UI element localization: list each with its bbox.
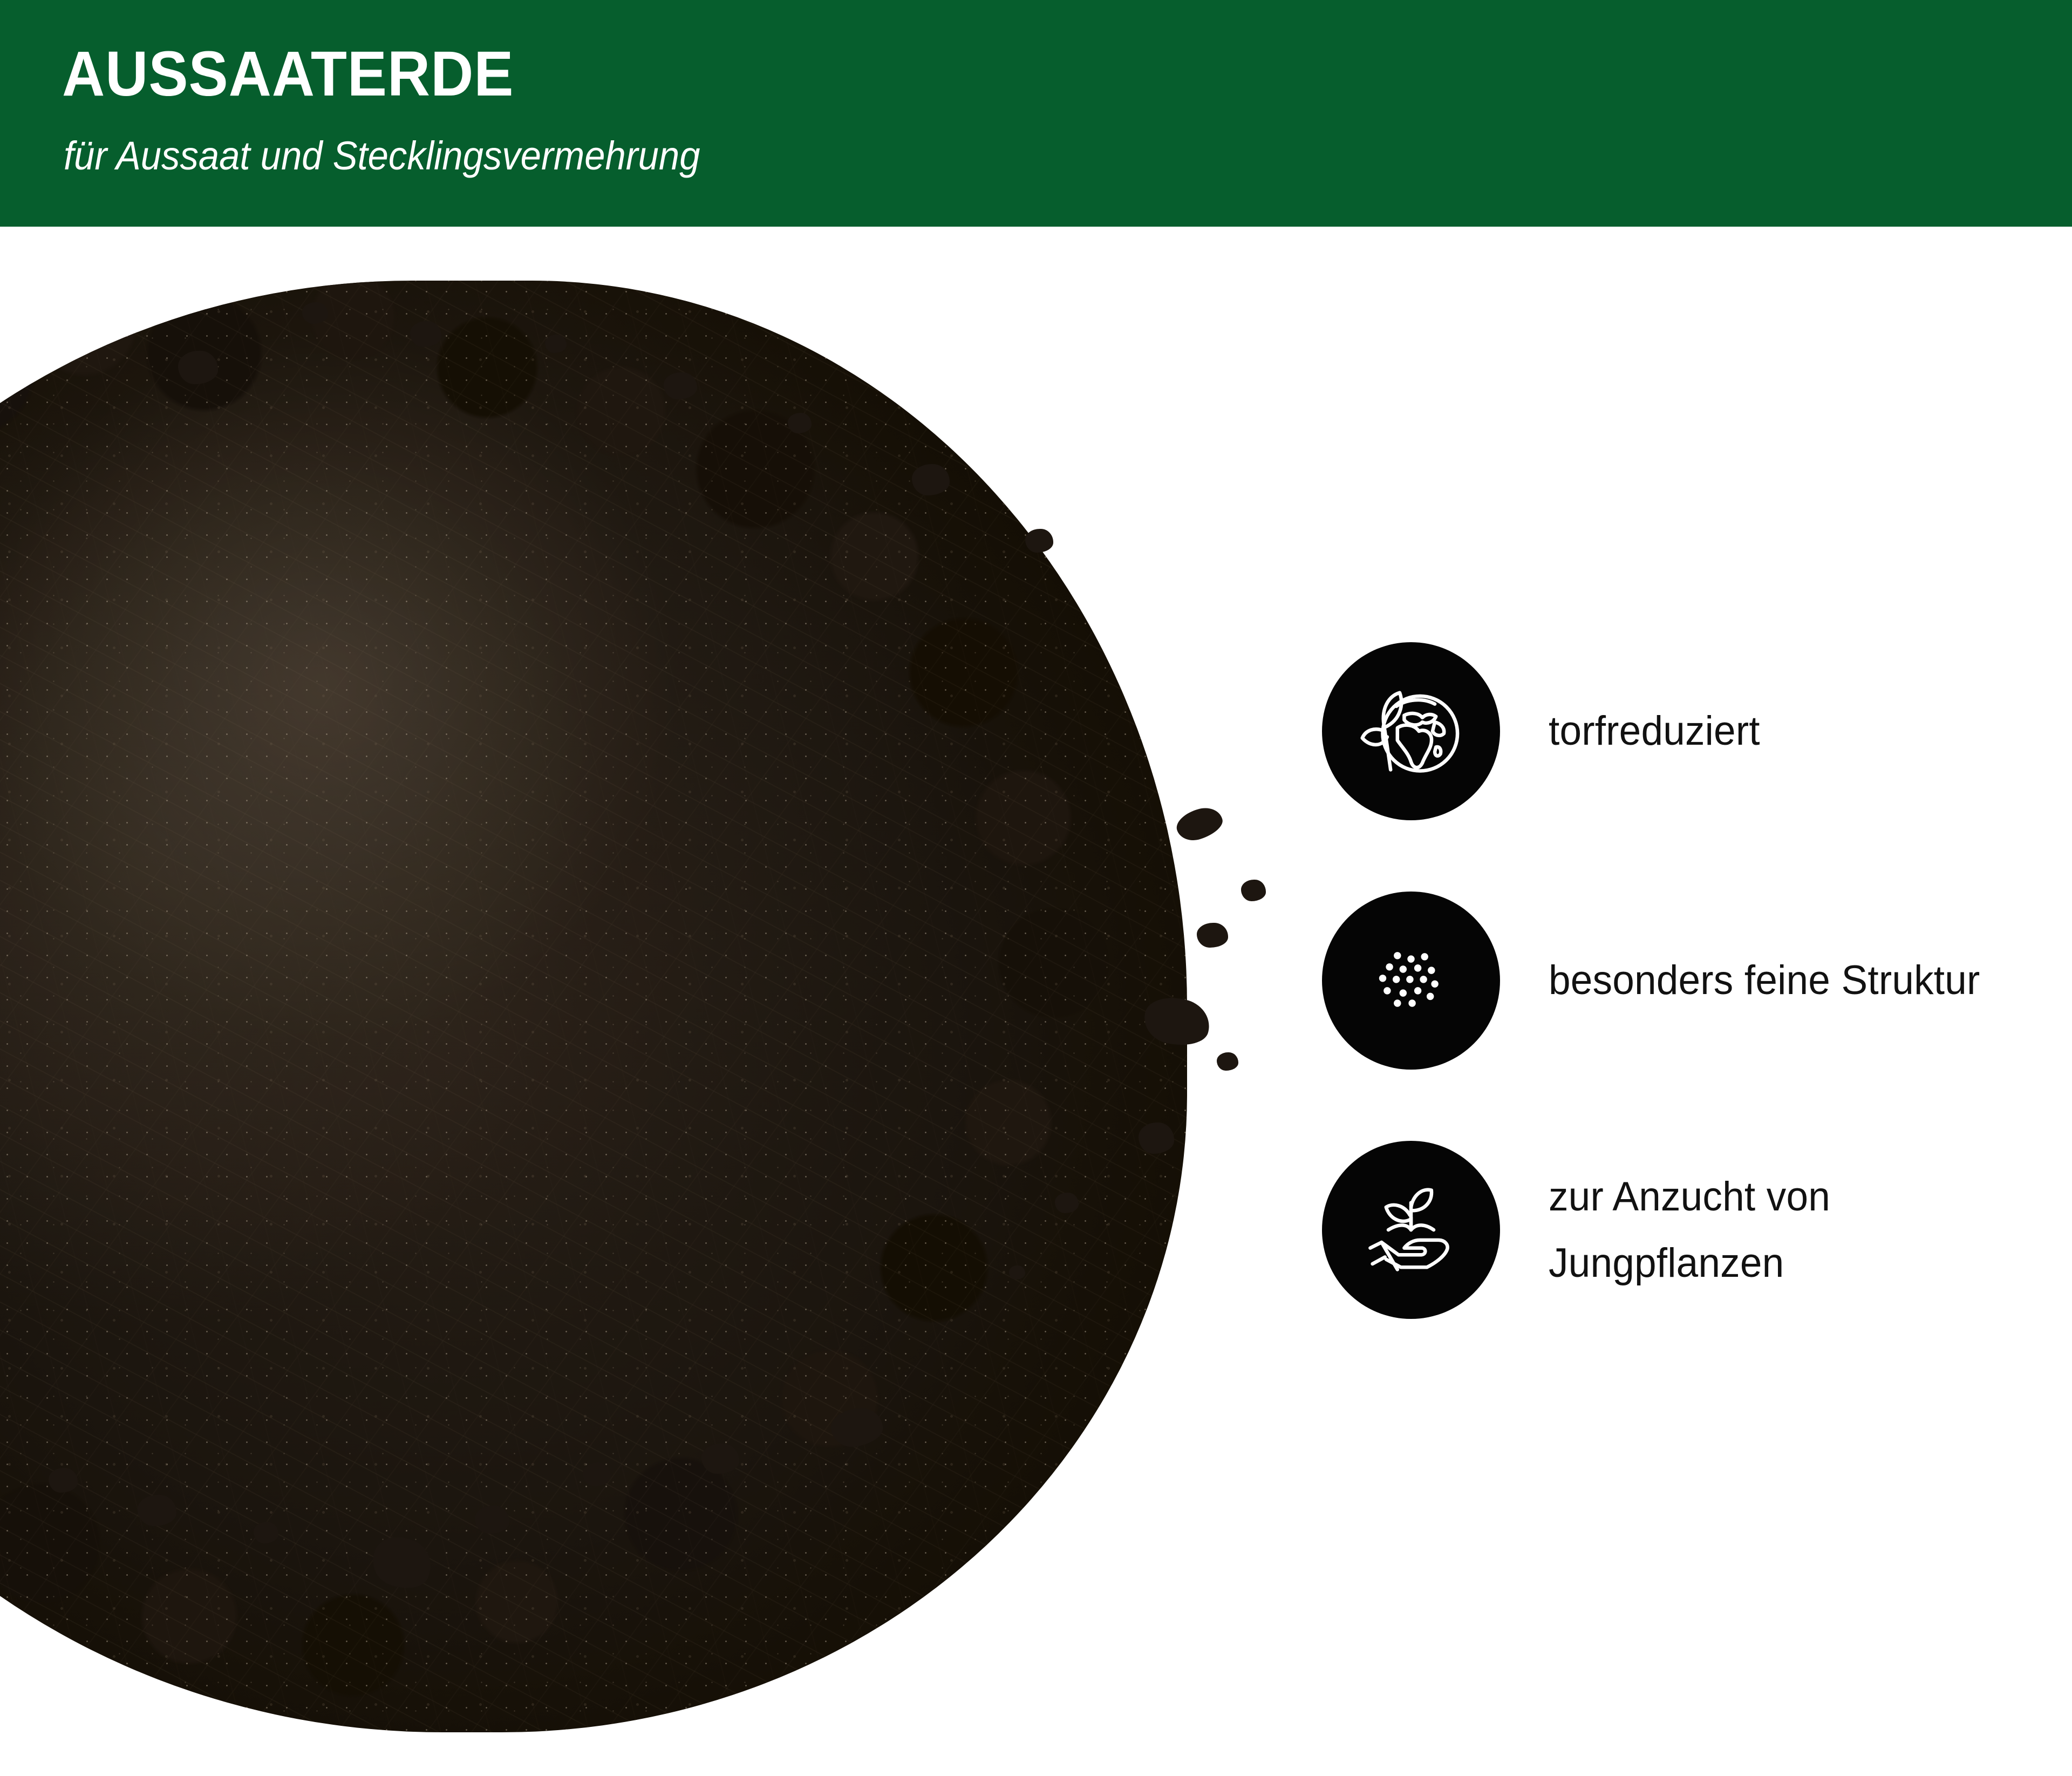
feature-item-feine-struktur: besonders feine Struktur bbox=[1322, 892, 2045, 1070]
feature-label-line1: zur Anzucht von bbox=[1549, 1163, 1830, 1230]
header-band: AUSSAATERDE für Aussaat und Stecklingsve… bbox=[0, 0, 2072, 227]
feature-item-anzucht: zur Anzucht von Jungpflanzen bbox=[1322, 1141, 2045, 1319]
soil-crumb bbox=[664, 372, 697, 399]
feature-label: besonders feine Struktur bbox=[1549, 947, 1980, 1013]
soil-crumb bbox=[1197, 923, 1228, 948]
page-title: AUSSAATERDE bbox=[62, 42, 514, 106]
soil-crumb bbox=[1217, 1052, 1238, 1071]
soil-crumb bbox=[178, 351, 218, 384]
feature-list: torfreduziert bbox=[1322, 642, 2045, 1319]
soil-crumb bbox=[1055, 1193, 1079, 1213]
feature-badge bbox=[1322, 642, 1500, 820]
soil-crumb bbox=[545, 335, 567, 353]
soil-crumb bbox=[475, 1506, 509, 1534]
soil-crumb bbox=[701, 1444, 739, 1474]
feature-label: zur Anzucht von Jungpflanzen bbox=[1549, 1163, 1830, 1296]
feature-label: torfreduziert bbox=[1549, 698, 1760, 764]
soil-crumb bbox=[788, 413, 812, 433]
soil-crumb bbox=[254, 1522, 278, 1543]
soil-crumb bbox=[410, 321, 441, 347]
feature-badge bbox=[1322, 892, 1500, 1070]
feature-badge bbox=[1322, 1141, 1500, 1319]
soil-crumb bbox=[1139, 1122, 1174, 1154]
soil-crumb bbox=[1173, 803, 1226, 845]
soil-speckle-texture bbox=[0, 281, 1187, 1732]
feature-item-torfreduziert: torfreduziert bbox=[1322, 642, 2045, 820]
soil-crumb bbox=[49, 1468, 78, 1493]
soil-crumb bbox=[583, 1462, 611, 1486]
soil-crumb bbox=[138, 1495, 176, 1526]
feature-label-line2: Jungpflanzen bbox=[1549, 1230, 1830, 1296]
soil-crumb bbox=[1025, 529, 1053, 553]
page-subtitle: für Aussaat und Stecklingsvermehrung bbox=[64, 133, 700, 179]
hand-holding-seedling-icon bbox=[1354, 1173, 1468, 1287]
product-image bbox=[0, 227, 1306, 1776]
soil-crumb bbox=[912, 464, 950, 495]
fine-granules-dots-icon bbox=[1354, 924, 1468, 1037]
soil-crumb bbox=[1009, 1265, 1025, 1280]
soil-crumb bbox=[302, 302, 328, 324]
globe-sprout-icon bbox=[1354, 675, 1468, 788]
soil-crumb bbox=[1241, 880, 1266, 901]
